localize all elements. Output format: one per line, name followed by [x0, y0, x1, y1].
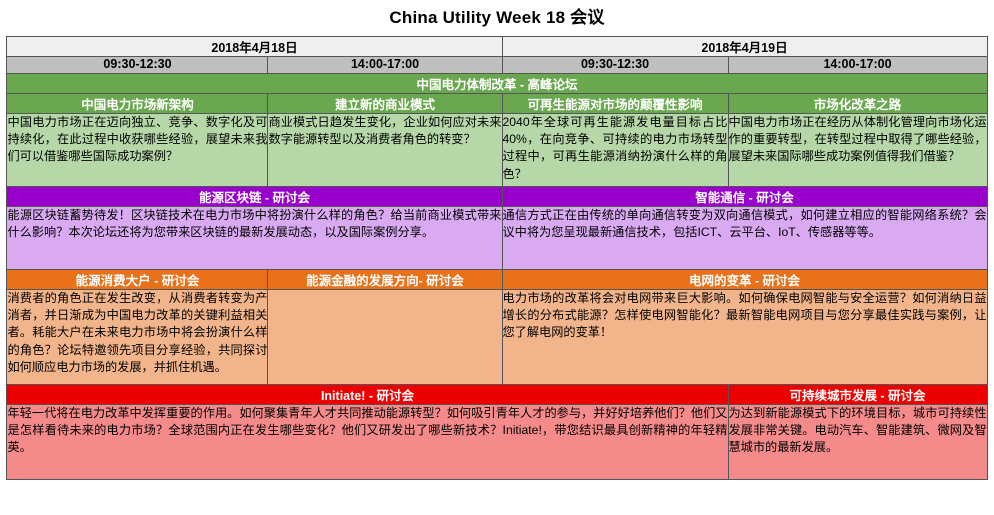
orange-body-row: 消费者的角色正在发生改变，从消费者转变为产消者，并日渐成为中国电力改革的关键利益… [7, 289, 987, 384]
date-header-day2: 2018年4月19日 [502, 36, 987, 56]
session-body-new-market-structure: 中国电力市场正在迈向独立、竞争、数字化及可持续化，在此过程中收获哪些经验，展望未… [7, 113, 268, 186]
session-title-new-market-structure[interactable]: 中国电力市场新架构 [7, 93, 268, 113]
page-title: China Utility Week 18 会议 [0, 0, 994, 36]
purple-body-row: 能源区块链蓄势待发！区块链技术在电力市场中将扮演什么样的角色？给当前商业模式带来… [7, 206, 987, 269]
session-title-energy-finance[interactable]: 能源金融的发展方向- 研讨会 [268, 269, 502, 289]
time-header-day1-afternoon: 14:00-17:00 [268, 56, 502, 73]
time-header-day1-morning: 09:30-12:30 [7, 56, 268, 73]
session-title-market-reform-path[interactable]: 市场化改革之路 [728, 93, 987, 113]
session-body-big-energy-consumers: 消费者的角色正在发生改变，从消费者转变为产消者，并日渐成为中国电力改革的关键利益… [7, 289, 268, 384]
time-header-day2-afternoon: 14:00-17:00 [728, 56, 987, 73]
summit-band-label: 中国电力体制改革 - 高峰论坛 [7, 73, 987, 93]
red-body-row: 年轻一代将在电力改革中发挥重要的作用。如何聚集青年人才共同推动能源转型？如何吸引… [7, 404, 987, 479]
purple-title-row: 能源区块链 - 研讨会 智能通信 - 研讨会 [7, 186, 987, 206]
session-body-energy-blockchain: 能源区块链蓄势待发！区块链技术在电力市场中将扮演什么样的角色？给当前商业模式带来… [7, 206, 502, 269]
session-title-big-energy-consumers[interactable]: 能源消费大户 - 研讨会 [7, 269, 268, 289]
session-body-energy-finance [268, 289, 502, 384]
session-title-energy-blockchain[interactable]: 能源区块链 - 研讨会 [7, 186, 502, 206]
session-body-new-business-models: 商业模式日趋发生变化，企业如何应对未来数字能源转型以及消费者角色的转变？ [268, 113, 502, 186]
session-body-renewables-disruption: 2040年全球可再生能源发电量目标占比40%，在向竞争、可持续的电力市场转型过程… [502, 113, 728, 186]
session-title-renewables-disruption[interactable]: 可再生能源对市场的颠覆性影响 [502, 93, 728, 113]
time-header-row: 09:30-12:30 14:00-17:00 09:30-12:30 14:0… [7, 56, 987, 73]
date-header-row: 2018年4月18日 2018年4月19日 [7, 36, 987, 56]
session-body-market-reform-path: 中国电力市场正在经历从体制化管理向市场化运作的重要转型，在转型过程中取得了哪些经… [728, 113, 987, 186]
summit-body-row: 中国电力市场正在迈向独立、竞争、数字化及可持续化，在此过程中收获哪些经验，展望未… [7, 113, 987, 186]
session-body-smart-communication: 通信方式正在由传统的单向通信转变为双向通信模式，如何建立相应的智能网络系统？会议… [502, 206, 987, 269]
summit-title-row: 中国电力市场新架构 建立新的商业模式 可再生能源对市场的颠覆性影响 市场化改革之… [7, 93, 987, 113]
session-title-grid-transformation[interactable]: 电网的变革 - 研讨会 [502, 269, 987, 289]
time-header-day2-morning: 09:30-12:30 [502, 56, 728, 73]
session-body-grid-transformation: 电力市场的改革将会对电网带来巨大影响。如何确保电网智能与安全运营？如何消纳日益增… [502, 289, 987, 384]
session-body-initiate: 年轻一代将在电力改革中发挥重要的作用。如何聚集青年人才共同推动能源转型？如何吸引… [7, 404, 728, 479]
red-title-row: Initiate! - 研讨会 可持续城市发展 - 研讨会 [7, 384, 987, 404]
orange-title-row: 能源消费大户 - 研讨会 能源金融的发展方向- 研讨会 电网的变革 - 研讨会 [7, 269, 987, 289]
session-title-sustainable-city[interactable]: 可持续城市发展 - 研讨会 [728, 384, 987, 404]
session-body-sustainable-city: 为达到新能源模式下的环境目标，城市可持续性发展非常关键。电动汽车、智能建筑、微网… [728, 404, 987, 479]
session-title-initiate[interactable]: Initiate! - 研讨会 [7, 384, 728, 404]
session-title-smart-communication[interactable]: 智能通信 - 研讨会 [502, 186, 987, 206]
date-header-day1: 2018年4月18日 [7, 36, 502, 56]
session-title-new-business-models[interactable]: 建立新的商业模式 [268, 93, 502, 113]
conference-schedule-table: 2018年4月18日 2018年4月19日 09:30-12:30 14:00-… [6, 36, 987, 480]
summit-band-row: 中国电力体制改革 - 高峰论坛 [7, 73, 987, 93]
